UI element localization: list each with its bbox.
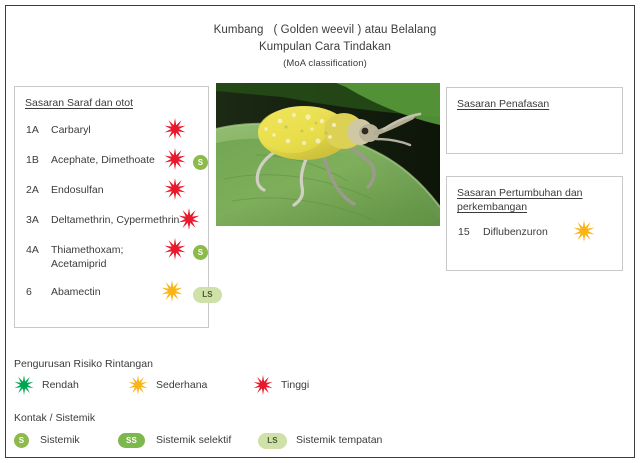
red-star-icon <box>164 148 186 170</box>
row-mode-badge: S <box>193 152 208 170</box>
legend-contact-label: Sistemik <box>40 433 80 447</box>
table-row: 6AbamectinLS <box>15 285 208 315</box>
badge-ls-icon: LS <box>258 430 287 449</box>
panel-nerve-and-muscle: Sasaran Saraf dan otot 1ACarbaryl1BAceph… <box>14 86 209 328</box>
legend-contact-heading: Kontak / Sistemik <box>14 411 95 425</box>
row-code: 4A <box>26 243 39 257</box>
legend-risk-label: Rendah <box>42 378 79 392</box>
row-active-ingredient: Thiamethoxam; Acetamiprid <box>51 243 123 271</box>
legend-risk-label: Tinggi <box>281 378 309 392</box>
red-star-icon <box>164 118 186 140</box>
badge-s: S <box>14 433 29 448</box>
row-risk-marker <box>161 280 183 302</box>
row-risk-marker <box>573 220 595 242</box>
panel-growth-title: Sasaran Pertumbuhan dan perkembangan <box>457 186 607 214</box>
yellow-star-icon <box>161 280 183 302</box>
row-active-ingredient: Abamectin <box>51 285 101 299</box>
row-mode-badge: LS <box>193 284 222 303</box>
badge-s: S <box>193 155 208 170</box>
table-row: 4AThiamethoxam; AcetamipridS <box>15 243 208 273</box>
red-star-icon <box>178 208 200 230</box>
panel-respiration: Sasaran Penafasan <box>446 87 623 154</box>
badge-s: S <box>193 245 208 260</box>
yellow-star-icon <box>128 375 148 400</box>
row-active-ingredient: Diflubenzuron <box>483 225 548 239</box>
badge-ss: SS <box>118 433 145 448</box>
row-risk-marker <box>164 238 186 260</box>
panel-nerve-title: Sasaran Saraf dan otot <box>25 96 200 110</box>
panel-growth-and-development: Sasaran Pertumbuhan dan perkembangan 15D… <box>446 176 623 271</box>
row-active-ingredient: Deltamethrin, Cypermethrin <box>51 213 179 227</box>
legend-risk-label: Sederhana <box>156 378 207 392</box>
red-star-icon <box>164 178 186 200</box>
table-row: 15Diflubenzuron <box>447 225 622 255</box>
moa-classification-poster: Kumbang ( Golden weevil ) atau Belalang … <box>0 0 640 463</box>
legend-risk-heading: Pengurusan Risiko Rintangan <box>14 357 153 371</box>
row-code: 3A <box>26 213 39 227</box>
badge-ls: LS <box>193 287 222 303</box>
red-star-icon <box>164 238 186 260</box>
row-active-ingredient: Carbaryl <box>51 123 91 137</box>
title-line-1: Kumbang ( Golden weevil ) atau Belalang <box>160 22 490 39</box>
row-code: 6 <box>26 285 32 299</box>
row-code: 2A <box>26 183 39 197</box>
row-risk-marker <box>164 118 186 140</box>
yellow-star-icon <box>573 220 595 242</box>
title-line-2: Kumpulan Cara Tindakan <box>160 39 490 56</box>
legend-contact-label: Sistemik tempatan <box>296 433 382 447</box>
panel-respiration-title: Sasaran Penafasan <box>457 97 617 111</box>
row-risk-marker <box>164 148 186 170</box>
poster-title: Kumbang ( Golden weevil ) atau Belalang … <box>160 22 490 72</box>
row-mode-badge: S <box>193 242 208 260</box>
row-risk-marker <box>164 178 186 200</box>
badge-ss-icon: SS <box>118 430 145 448</box>
row-code: 1B <box>26 153 39 167</box>
title-line-3: (MoA classification) <box>160 56 490 72</box>
badge-ls: LS <box>258 433 287 449</box>
row-code: 1A <box>26 123 39 137</box>
row-active-ingredient: Endosulfan <box>51 183 104 197</box>
badge-s-icon: S <box>14 430 29 448</box>
row-code: 15 <box>458 225 470 239</box>
weevil-photo <box>216 83 440 226</box>
row-risk-marker <box>178 208 200 230</box>
red-star-icon <box>253 375 273 400</box>
legend-contact-label: Sistemik selektif <box>156 433 231 447</box>
row-active-ingredient: Acephate, Dimethoate <box>51 153 155 167</box>
green-star-icon <box>14 375 34 400</box>
